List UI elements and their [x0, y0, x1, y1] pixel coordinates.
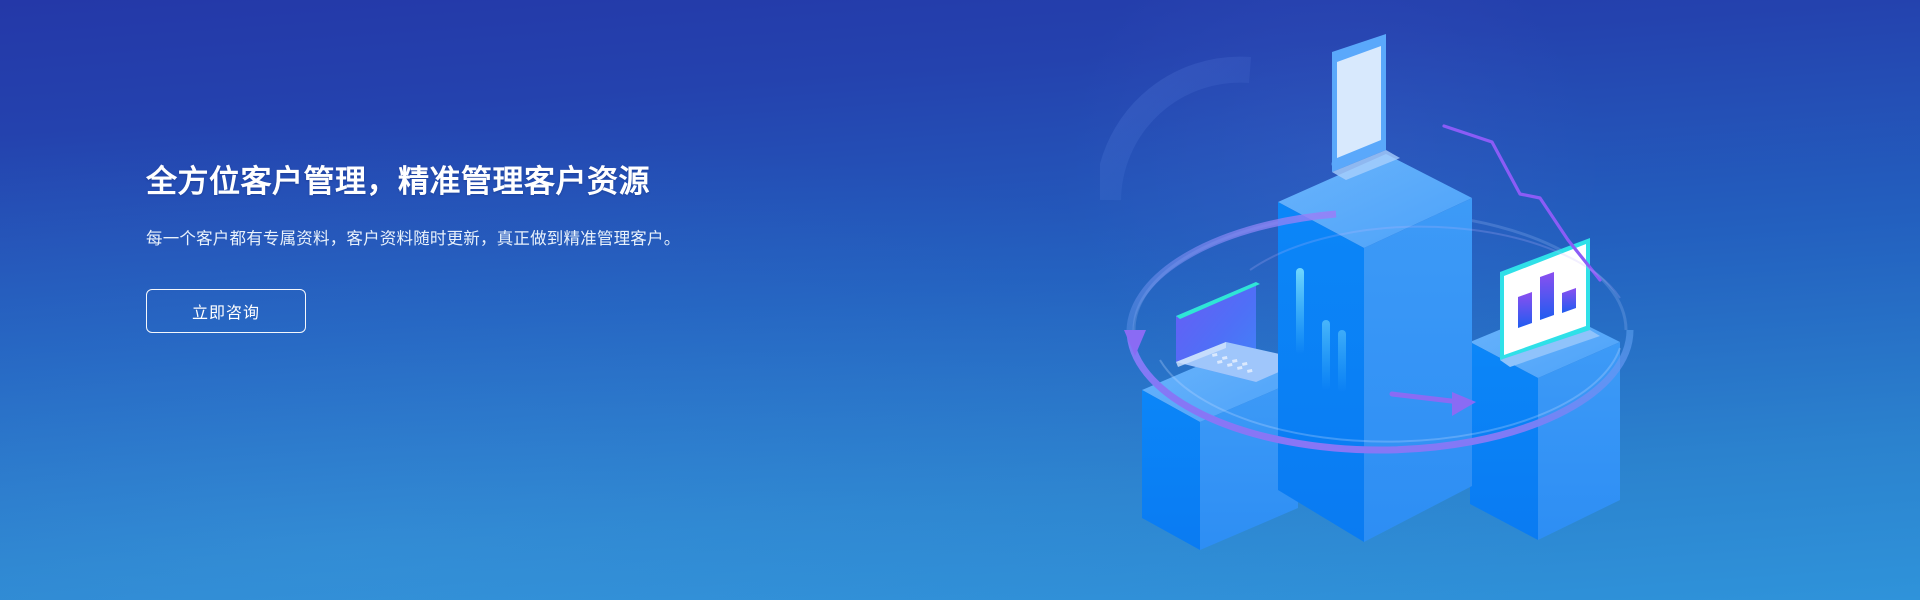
tablet	[1332, 34, 1401, 180]
pillar-glow-bar-2	[1322, 320, 1330, 390]
pillar-glow-bar-3	[1338, 330, 1346, 392]
left-pillar	[1142, 348, 1298, 550]
center-pillar	[1278, 154, 1472, 542]
pillar-glow-bar-1	[1296, 268, 1304, 354]
hero-copy-block: 全方位客户管理，精准管理客户资源 每一个客户都有专属资料，客户资料随时更新，真正…	[146, 160, 786, 333]
hero-description: 每一个客户都有专属资料，客户资料随时更新，真正做到精准管理客户。	[146, 226, 731, 253]
page-title: 全方位客户管理，精准管理客户资源	[146, 160, 786, 204]
hero-banner: 全方位客户管理，精准管理客户资源 每一个客户都有专属资料，客户资料随时更新，真正…	[0, 0, 1920, 600]
halo-arc	[1108, 70, 1250, 200]
consult-now-button[interactable]: 立即咨询	[146, 289, 306, 333]
hero-illustration	[1100, 30, 1660, 570]
orbit-arrow-left	[1124, 330, 1146, 356]
